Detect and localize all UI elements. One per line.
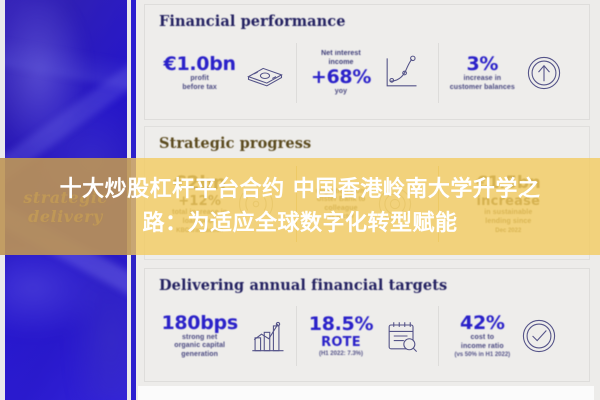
stat-text: 3% increase incustomer balances <box>450 54 515 92</box>
stat-label: strong netorganic capitalgeneration <box>161 334 237 360</box>
stat-label: profitbefore tax <box>164 75 236 92</box>
banknotes-icon <box>242 51 288 95</box>
stat-value: +68% <box>311 67 371 88</box>
stat-cost-income-ratio: 42% cost toincome ratio (vs 50% in H1 20… <box>438 299 579 373</box>
section-annual-targets: Delivering annual financial targets 180b… <box>144 268 590 382</box>
stat-organic-capital: 180bps strong netorganic capitalgenerati… <box>155 299 296 373</box>
stat-label: increase incustomer balances <box>450 75 515 92</box>
stat-value: 42% <box>454 313 510 334</box>
calendar-search-icon <box>379 314 425 358</box>
stat-text: Net interestincome +68% yoy <box>311 49 371 97</box>
stat-row: 180bps strong netorganic capitalgenerati… <box>155 299 579 373</box>
overlay-headline-line1: 十大炒股杠杆平台合约 中国香港岭南大学升学之 <box>60 173 541 207</box>
stat-note: (vs 50% in H1 2022) <box>454 351 510 359</box>
stat-value: 180bps <box>161 313 237 334</box>
stat-text: 180bps strong netorganic capitalgenerati… <box>161 313 237 360</box>
stat-text: €1.0bn profitbefore tax <box>164 54 236 92</box>
stat-secondary-value: ROTE <box>309 335 373 350</box>
document-bottom-edge <box>138 386 594 400</box>
stat-text: 42% cost toincome ratio (vs 50% in H1 20… <box>454 313 510 359</box>
stat-row: €1.0bn profitbefore tax <box>155 35 579 111</box>
stat-label: yoy <box>311 88 371 97</box>
circle-up-arrow-icon <box>521 51 567 95</box>
overlay-headline-line2: 路：为适应全球数字化转型赋能 <box>142 207 457 241</box>
upward-trend-chart-icon <box>377 51 423 95</box>
overlay-headline: 十大炒股杠杆平台合约 中国香港岭南大学升学之 路：为适应全球数字化转型赋能 <box>0 158 600 255</box>
check-badge-icon <box>516 314 562 358</box>
screenshot-root: strategic delivery Financial performance… <box>0 0 600 400</box>
stat-value: 18.5% <box>309 314 373 335</box>
stat-value: €1.0bn <box>164 54 236 75</box>
stat-net-interest-income: Net interestincome +68% yoy <box>296 35 437 111</box>
section-financial-performance: Financial performance €1.0bn profitbefor… <box>144 4 590 120</box>
stat-note: (H1 2022: 7.3%) <box>309 350 373 358</box>
stat-caption: Net interestincome <box>311 49 371 67</box>
stat-rote: 18.5% ROTE (H1 2022: 7.3%) <box>296 299 437 373</box>
stat-customer-balances: 3% increase incustomer balances <box>438 35 579 111</box>
section-title: Delivering annual financial targets <box>145 269 589 294</box>
bar-line-chart-icon <box>244 314 290 358</box>
stat-profit-before-tax: €1.0bn profitbefore tax <box>155 35 296 111</box>
section-title: Strategic progress <box>145 127 589 152</box>
stat-text: 18.5% ROTE (H1 2022: 7.3%) <box>309 314 373 358</box>
section-title: Financial performance <box>145 5 589 30</box>
stat-value: 3% <box>450 54 515 75</box>
stat-label: cost toincome ratio <box>454 334 510 351</box>
